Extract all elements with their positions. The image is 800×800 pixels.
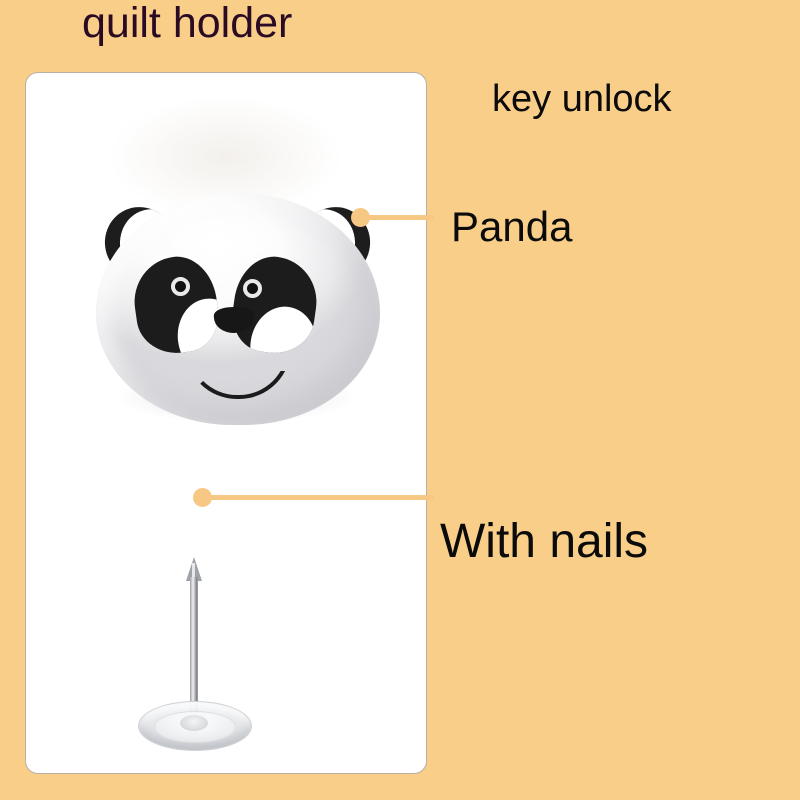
- panda-left-pupil: [171, 277, 190, 296]
- panda-right-pupil: [243, 279, 262, 298]
- callout-label-with-nails: With nails: [440, 518, 648, 566]
- panda-head-product-image: [88, 185, 388, 435]
- nail-pin-product-image: [134, 555, 254, 755]
- callout-label-panda: Panda: [451, 206, 572, 248]
- page-title: quilt holder: [82, 2, 292, 45]
- product-photo-card: [25, 72, 427, 774]
- callout-line-panda: [360, 215, 434, 220]
- product-infographic: quilt holder key unlock: [0, 0, 800, 800]
- callout-label-key-unlock: key unlock: [492, 80, 672, 118]
- nail-base-collar: [180, 715, 208, 731]
- callout-line-with-nails: [202, 495, 434, 500]
